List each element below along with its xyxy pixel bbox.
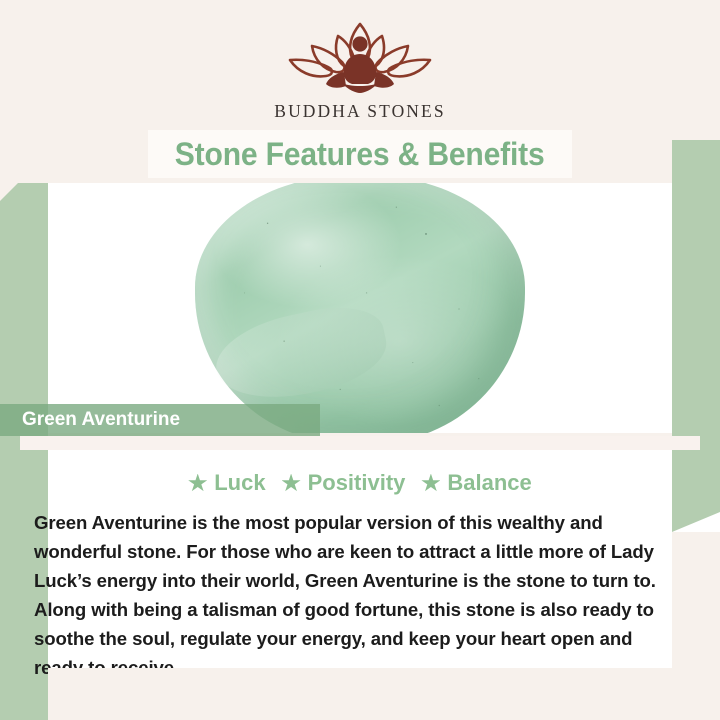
page-title-banner: Stone Features & Benefits	[148, 130, 572, 178]
stone-name-label: Green Aventurine	[0, 404, 320, 436]
section-separator	[20, 436, 700, 450]
star-icon	[188, 474, 207, 493]
benefit-label: Positivity	[308, 470, 406, 496]
stone-photo	[48, 183, 672, 433]
star-icon	[282, 474, 301, 493]
frame-band-right	[672, 140, 720, 532]
stone-name-text: Green Aventurine	[0, 409, 180, 431]
lotus-meditation-icon	[245, 16, 475, 99]
benefit-item-balance: Balance	[421, 470, 531, 496]
benefit-item-luck: Luck	[188, 470, 265, 496]
benefits-row: Luck Positivity Balance	[48, 450, 672, 496]
page-title: Stone Features & Benefits	[175, 136, 545, 173]
star-icon	[421, 474, 440, 493]
benefit-item-positivity: Positivity	[282, 470, 406, 496]
brand-logo: BUDDHA STONES	[245, 16, 475, 122]
stone-description: Green Aventurine is the most popular ver…	[34, 508, 686, 682]
stone-info-card: BUDDHA STONES Stone Features & Benefits …	[0, 0, 720, 720]
brand-name: BUDDHA STONES	[245, 101, 475, 122]
benefit-label: Balance	[447, 470, 531, 496]
benefit-label: Luck	[214, 470, 265, 496]
footer-strip	[48, 668, 720, 720]
content-panel: Luck Positivity Balance Green Aventurine…	[48, 450, 672, 668]
green-aventurine-stone-image	[195, 183, 525, 433]
